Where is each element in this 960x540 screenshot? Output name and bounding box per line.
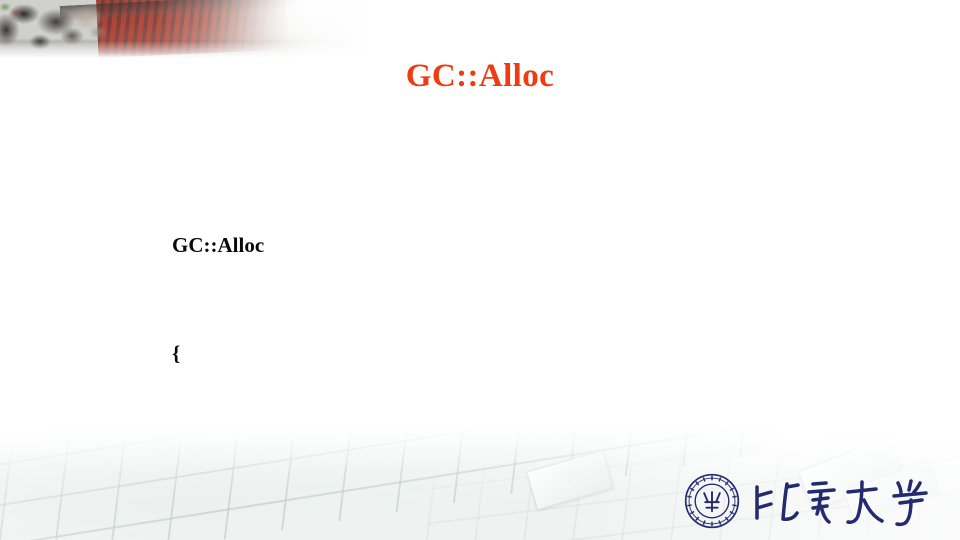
slide: GC::Alloc GC::Alloc { if(size < kLargest…: [0, 0, 960, 540]
pku-seal-icon: [684, 473, 740, 529]
code-line: GC::Alloc: [172, 227, 892, 263]
pku-wordmark: [750, 475, 930, 527]
code-line: {: [172, 335, 892, 371]
page-title: GC::Alloc: [0, 58, 960, 94]
pku-logo: [684, 470, 930, 532]
banner-fade-overlay: [0, 0, 372, 58]
header-banner-image: [0, 0, 372, 58]
